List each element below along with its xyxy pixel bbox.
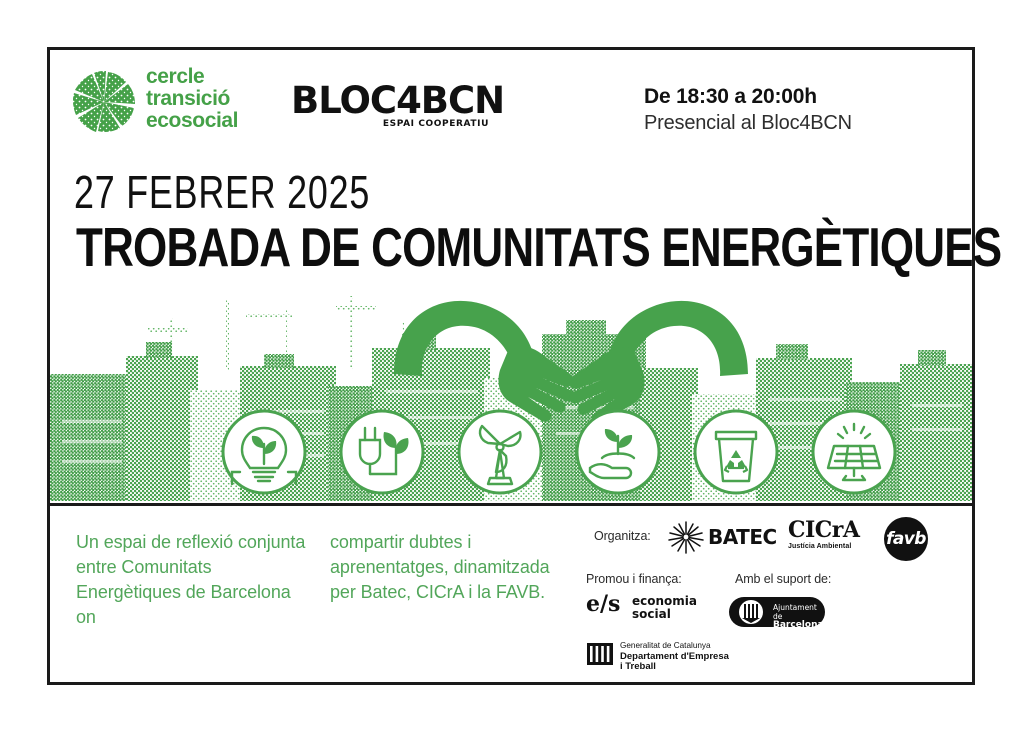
event-time: De 18:30 a 20:00h — [644, 84, 904, 110]
batec-wordmark: BATEC — [708, 525, 777, 549]
batec-logo: BATEC — [666, 519, 778, 555]
recycle-bin-icon — [695, 411, 777, 493]
ajuntament-wordmark: Ajuntament de Barcelona — [773, 603, 825, 630]
barcelona-crest-icon — [738, 599, 764, 625]
bloc4bcn-wordmark: BLOC4BCN — [291, 82, 491, 120]
generalitat-wordmark: Generalitat de Catalunya Departament d'E… — [620, 641, 729, 673]
ajuntament-line-1: Ajuntament de — [773, 603, 825, 621]
economia-social-logo: e/s economia social — [586, 592, 696, 624]
cicra-logo: CICrA Justícia Ambiental — [788, 518, 876, 560]
cercle-line-1: cercle — [146, 66, 238, 88]
generalitat-shield-icon — [586, 641, 614, 667]
wind-turbine-icon — [459, 411, 541, 493]
poster-canvas: cercle transició ecosocial BLOC4BCN ESPA… — [0, 0, 1024, 736]
cercle-line-3: ecosocial — [146, 110, 238, 132]
generalitat-line-3: i Treball — [620, 662, 729, 673]
illustration-area — [50, 270, 972, 501]
economia-social-symbol: e/s — [586, 592, 620, 616]
starburst-icon — [666, 519, 706, 555]
hand-plant-icon — [577, 411, 659, 493]
cercle-pinwheel-icon — [72, 70, 136, 134]
cicra-wordmark: CICrA — [788, 518, 876, 542]
event-location: Presencial al Bloc4BCN — [644, 110, 904, 136]
lightbulb-plant-icon — [223, 411, 305, 493]
schedule-block: De 18:30 a 20:00h Presencial al Bloc4BCN — [644, 84, 904, 136]
cercle-transicio-ecosocial-logo: cercle transició ecosocial — [72, 68, 262, 140]
favb-logo: favb — [884, 517, 928, 561]
economia-social-wordmark: economia social — [632, 595, 697, 621]
generalitat-logo: Generalitat de Catalunya Departament d'E… — [586, 641, 766, 675]
cercle-line-2: transició — [146, 88, 238, 110]
bloc4bcn-logo: BLOC4BCN ESPAI COOPERATIU — [291, 82, 491, 138]
favb-wordmark: favb — [884, 517, 928, 561]
page-title: TROBADA DE COMUNITATS ENERGÈTIQUES — [76, 218, 1001, 276]
cicra-subtitle: Justícia Ambiental — [788, 543, 876, 550]
organitza-label: Organitza: — [594, 529, 651, 543]
solar-panel-icon — [813, 411, 895, 493]
economia-social-line-2: social — [632, 608, 697, 621]
section-divider — [47, 503, 975, 506]
event-date: 27 FEBRER 2025 — [74, 168, 370, 216]
generalitat-line-1: Generalitat de Catalunya — [620, 641, 729, 652]
cercle-wordmark: cercle transició ecosocial — [146, 66, 238, 132]
promou-label: Promou i finança: — [586, 572, 682, 586]
body-column-2: compartir dubtes i aprenentatges, dinami… — [330, 530, 565, 605]
body-column-1: Un espai de reflexió conjunta entre Comu… — [76, 530, 306, 630]
ajuntament-barcelona-logo: Ajuntament de Barcelona — [729, 597, 825, 627]
plug-leaf-icon — [341, 411, 423, 493]
ajuntament-line-2: Barcelona — [773, 621, 825, 630]
suport-label: Amb el suport de: — [735, 572, 831, 586]
